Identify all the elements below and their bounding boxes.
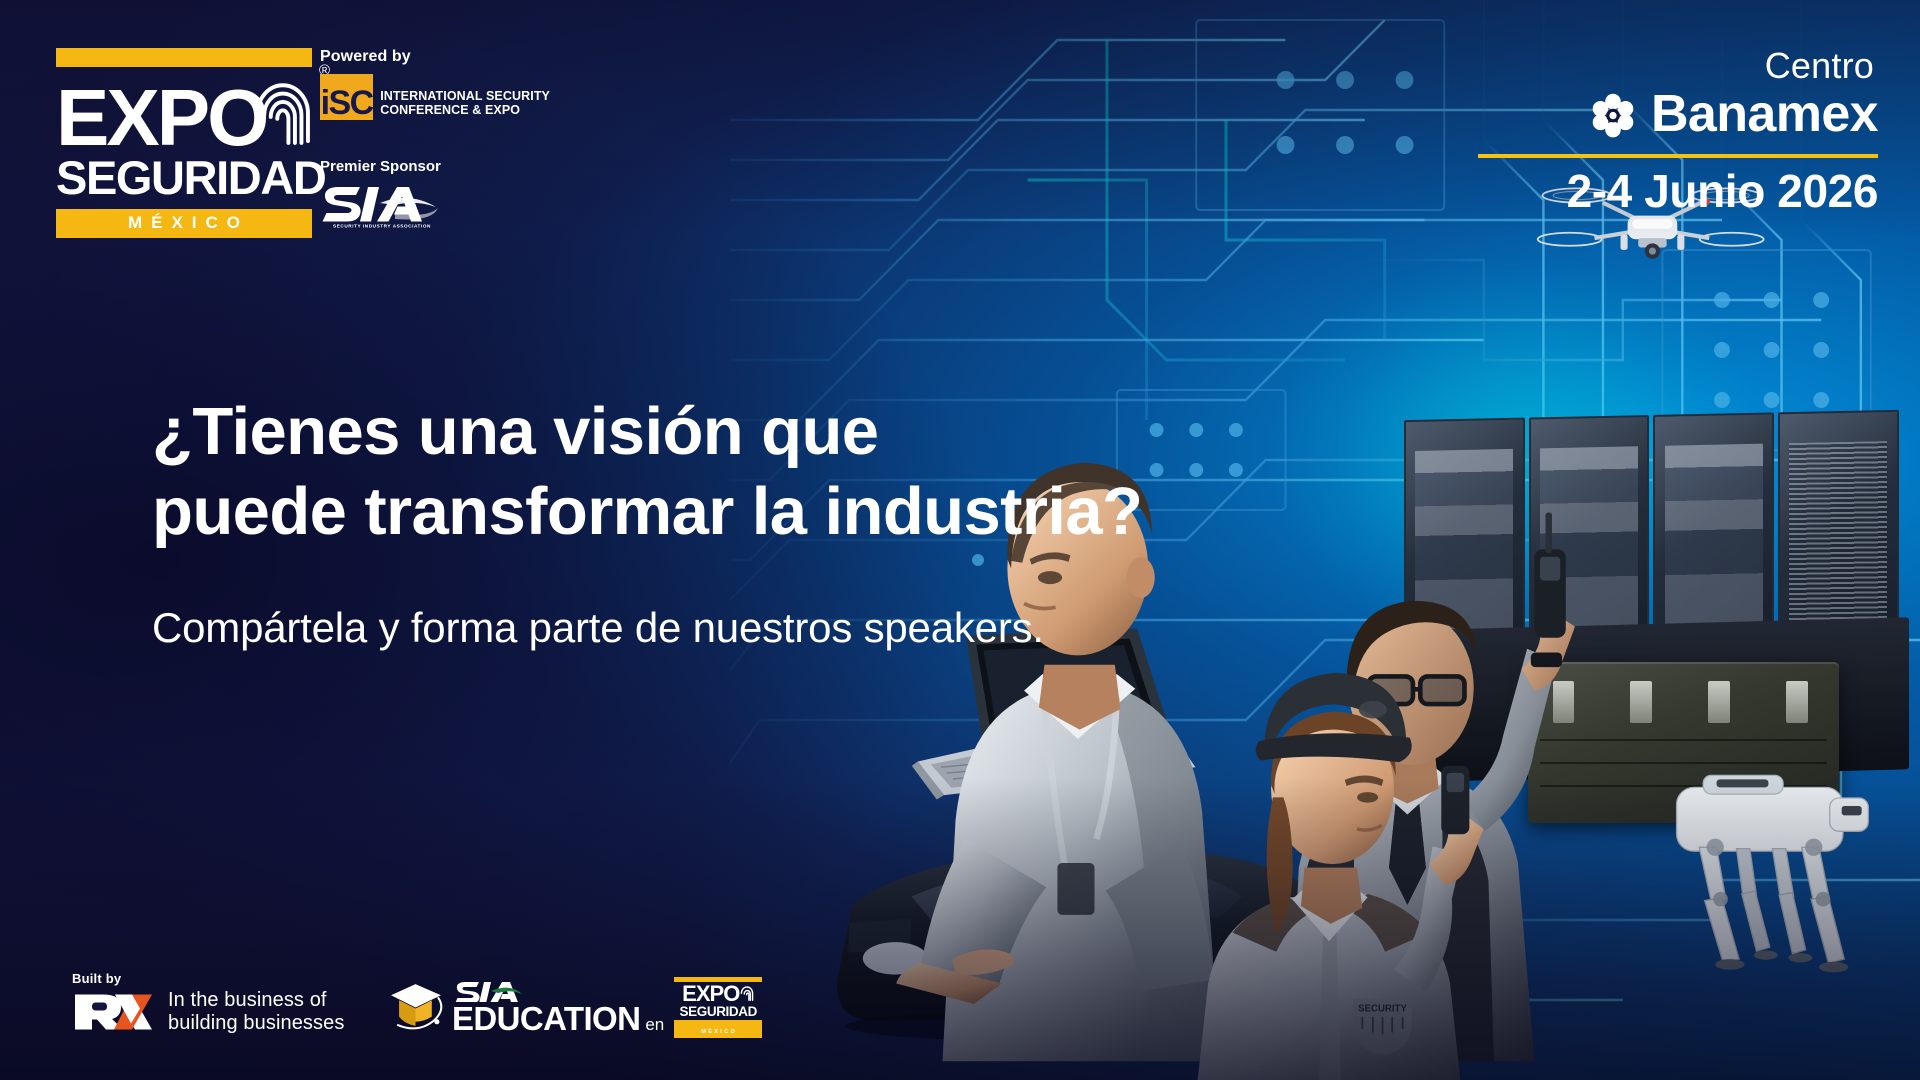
venue-divider [1478, 154, 1878, 158]
expo-seguridad-small-logo: EXPO SEGURIDAD MÉXICO [674, 977, 762, 1038]
sia-logo-subtext: SECURITY INDUSTRY ASSOCIATION [333, 224, 431, 229]
premier-sponsor-sia[interactable]: Premier Sponsor SECURITY INDUSTRY ASSOCI… [320, 158, 520, 229]
rx-tagline: In the business of building businesses [168, 989, 344, 1036]
graduation-cap-icon [388, 980, 444, 1034]
powered-by-isc[interactable]: Powered by iSC INTERNATIONAL SECURITY CO… [320, 48, 550, 120]
hero-subheadline: Compártela y forma parte de nuestros spe… [152, 604, 1044, 652]
built-by-rx[interactable]: Built by In the business of b [72, 971, 344, 1036]
hero-headline: ¿Tienes una visión que puede transformar… [152, 392, 1242, 551]
small-logo-expo-word: EXPO [682, 982, 739, 1005]
logo-expo-word: EXPO [56, 85, 266, 151]
headline-line-2: puede transformar la industria? [152, 472, 1242, 552]
logo-seguridad-word: SEGURIDAD [56, 153, 312, 204]
sia-logo: SECURITY INDUSTRY ASSOCIATION [320, 181, 440, 229]
fingerprint-icon [740, 984, 754, 1002]
powered-by-label: Powered by [320, 48, 550, 66]
isc-name-line-2: CONFERENCE & EXPO [380, 103, 550, 118]
logo-top-bar [56, 48, 312, 67]
rx-logo-icon [72, 990, 152, 1034]
isc-mark: iSC [320, 74, 373, 120]
footer: Built by In the business of b [0, 950, 1920, 1080]
headline-line-1: ¿Tienes una visión que [152, 392, 1242, 472]
expo-seguridad-logo[interactable]: ® EXPO SEGURIDAD MÉXICO [56, 48, 312, 238]
small-logo-seguridad-word: SEGURIDAD [674, 1005, 762, 1019]
small-logo-mexico-word: MÉXICO [699, 1029, 737, 1035]
event-dates: 2-4 Junio 2026 [1478, 168, 1878, 214]
education-word: EDUCATION [452, 1002, 640, 1035]
fingerprint-icon [254, 79, 312, 151]
sia-education-logo[interactable]: EDUCATION en EXPO [388, 977, 762, 1038]
venue-line-2: Banamex [1651, 88, 1878, 140]
venue-line-1: Centro [1478, 48, 1878, 84]
isc-mark-text: iSC [321, 87, 373, 119]
logo-bottom-bar: MÉXICO [56, 209, 312, 238]
sia-wordmark-icon [454, 980, 524, 1002]
built-by-label: Built by [72, 971, 344, 986]
premier-sponsor-label: Premier Sponsor [320, 158, 520, 175]
banamex-flower-icon [1587, 88, 1639, 140]
rx-tagline-line-2: building businesses [168, 1012, 344, 1036]
isc-name-line-1: INTERNATIONAL SECURITY [380, 89, 550, 104]
promo-banner: 57 POLICE [0, 0, 1920, 1080]
venue-and-dates: Centro Banamex 2-4 Ju [1478, 48, 1878, 214]
small-logo-bottom-bar: MÉXICO [674, 1020, 762, 1038]
logo-mexico-word: MÉXICO [119, 213, 249, 233]
education-connector: en [645, 1016, 664, 1033]
rx-tagline-line-1: In the business of [168, 989, 344, 1013]
